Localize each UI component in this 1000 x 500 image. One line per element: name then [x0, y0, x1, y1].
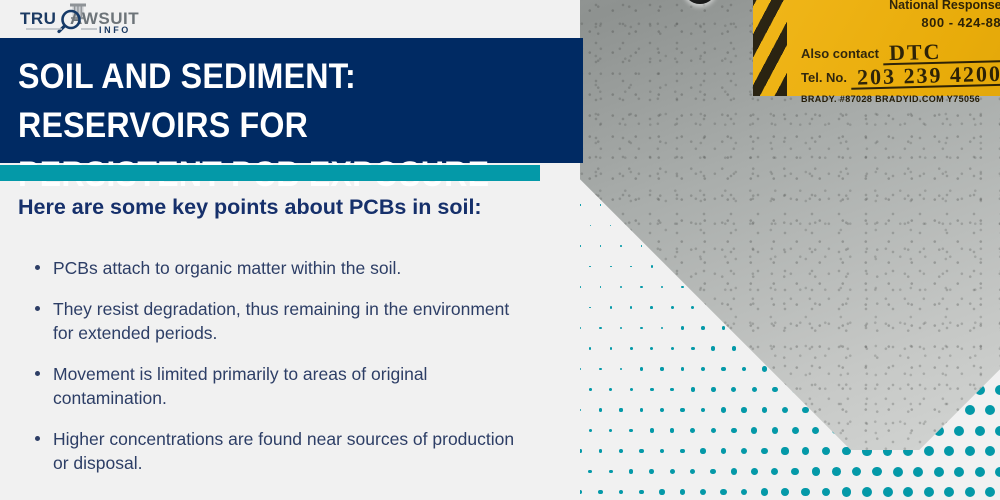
halftone-dot: [580, 409, 581, 412]
label-tel-caption: Tel. No.: [801, 69, 847, 85]
halftone-dot: [751, 427, 757, 433]
halftone-dot: [934, 467, 944, 477]
halftone-dot: [681, 367, 685, 371]
label-manufacturer-line: BRADY. #87028 BRADYID.COM Y75056: [787, 93, 1000, 103]
halftone-dot: [580, 204, 581, 205]
list-item: PCBs attach to organic matter within the…: [32, 256, 522, 280]
halftone-dot: [690, 469, 695, 474]
halftone-dot: [741, 448, 747, 454]
warning-label-body: CAUTION CONTAINS PCBs (Polychlorinated B…: [787, 0, 1000, 104]
halftone-dot: [680, 408, 684, 412]
halftone-dot: [985, 487, 995, 497]
label-also-contact-caption: Also contact: [801, 45, 879, 61]
halftone-dot: [620, 286, 622, 288]
halftone-dot: [761, 448, 768, 455]
halftone-dot: [801, 488, 809, 496]
hazard-stripes-left: [753, 0, 787, 96]
halftone-dot: [721, 407, 726, 412]
halftone-dot: [640, 367, 643, 370]
halftone-dot: [965, 487, 975, 497]
halftone-dot: [741, 489, 748, 496]
halftone-dot: [691, 387, 695, 391]
halftone-dot: [741, 407, 746, 412]
halftone-dot: [701, 326, 705, 330]
halftone-dot: [944, 446, 954, 456]
halftone-dot: [610, 266, 612, 268]
halftone-dot: [710, 469, 716, 475]
halftone-dot: [862, 487, 872, 497]
halftone-dot: [852, 467, 861, 476]
halftone-dot: [791, 468, 799, 476]
halftone-dot: [670, 469, 675, 474]
halftone-dot: [691, 306, 694, 309]
halftone-dot: [680, 489, 686, 495]
halftone-dot: [731, 468, 737, 474]
halftone-dot: [812, 467, 820, 475]
halftone-dot: [650, 347, 653, 350]
halftone-dot: [975, 467, 985, 477]
halftone-dot: [782, 407, 788, 413]
halftone-dot: [661, 327, 664, 330]
halftone-dot: [700, 489, 706, 495]
halftone-dot: [771, 468, 778, 475]
halftone-dot: [671, 306, 674, 309]
halftone-dot: [599, 368, 602, 371]
halftone-dot: [660, 408, 664, 412]
halftone-dot: [721, 367, 725, 371]
halftone-dot: [781, 488, 789, 496]
label-tel-row: Tel. No. 203 239 4200: [801, 63, 1000, 85]
halftone-dot: [630, 266, 632, 268]
halftone-dot: [599, 449, 603, 453]
halftone-dot: [721, 448, 727, 454]
halftone-dot: [580, 490, 582, 494]
halftone-dot: [659, 489, 664, 494]
halftone-dot: [589, 429, 592, 432]
halftone-dot: [954, 426, 964, 436]
halftone-dot: [619, 490, 623, 494]
halftone-dot: [660, 449, 665, 454]
halftone-dot: [690, 428, 695, 433]
halftone-dot: [580, 327, 581, 329]
halftone-dot: [650, 388, 654, 392]
halftone-dot: [720, 489, 726, 495]
halftone-dot: [691, 347, 695, 351]
halftone-dot: [610, 306, 612, 308]
halftone-dot: [580, 368, 581, 370]
halftone-dot: [762, 407, 768, 413]
key-points-list: PCBs attach to organic matter within the…: [32, 256, 522, 492]
halftone-dot: [598, 490, 602, 494]
halftone-dot: [609, 429, 612, 432]
halftone-dot: [590, 225, 591, 226]
label-spill-text: In case of accident or spill, call toll …: [787, 0, 1000, 13]
halftone-dot: [995, 385, 1000, 395]
halftone-dot: [700, 448, 705, 453]
halftone-dot: [701, 367, 705, 371]
svg-text:INFO: INFO: [99, 25, 131, 35]
halftone-dot: [924, 446, 934, 456]
halftone-dot: [630, 347, 633, 350]
teal-accent-bar: [0, 165, 540, 181]
halftone-dot: [985, 405, 995, 415]
halftone-dot: [600, 245, 601, 246]
halftone-dot: [641, 245, 643, 247]
label-contact-block: Also contact DTC Tel. No. 203 239 4200: [787, 40, 1000, 86]
halftone-dot: [599, 408, 602, 411]
halftone-dot: [649, 469, 654, 474]
halftone-dot: [732, 346, 736, 350]
list-item: Higher concentrations are found near sou…: [32, 427, 522, 475]
halftone-dot: [580, 449, 582, 452]
halftone-dot: [610, 225, 611, 226]
halftone-dot: [701, 408, 706, 413]
halftone-dot: [781, 447, 788, 454]
halftone-dot: [629, 429, 633, 433]
halftone-dot: [711, 346, 715, 350]
halftone-dot: [751, 468, 758, 475]
halftone-dot: [681, 286, 684, 289]
halftone-dot: [660, 367, 663, 370]
title-banner: SOIL AND SEDIMENT: RESERVOIRS FOR PERSIS…: [0, 38, 583, 163]
halftone-dot: [772, 427, 778, 433]
halftone-dot: [619, 408, 622, 411]
halftone-dot: [822, 488, 831, 497]
halftone-dot: [680, 449, 685, 454]
halftone-dot: [609, 470, 613, 474]
halftone-dot: [965, 446, 975, 456]
halftone-dot: [752, 387, 757, 392]
halftone-dot: [600, 204, 601, 205]
halftone-dot: [630, 388, 633, 391]
halftone-dot: [620, 245, 622, 247]
halftone-dot: [640, 327, 643, 330]
halftone-dot: [580, 245, 581, 246]
halftone-dot: [630, 306, 632, 308]
label-also-contact-row: Also contact DTC: [801, 40, 1000, 62]
logo-svg: TRU AWSUIT INFO: [18, 2, 150, 36]
halftone-dot: [722, 326, 726, 330]
halftone-dot: [651, 265, 653, 267]
halftone-dot: [589, 266, 591, 268]
halftone-dot: [883, 487, 893, 497]
halftone-dot: [639, 490, 644, 495]
halftone-dot: [620, 327, 622, 329]
halftone-dot: [802, 447, 810, 455]
halftone-dot: [711, 387, 716, 392]
halftone-dot: [772, 387, 778, 393]
halftone-dot: [731, 387, 736, 392]
halftone-dot: [619, 449, 623, 453]
halftone-dot: [742, 367, 747, 372]
halftone-dot: [599, 327, 601, 329]
halftone-dot: [589, 347, 591, 349]
halftone-dot: [944, 487, 954, 497]
halftone-dot: [903, 487, 913, 497]
halftone-dot: [650, 428, 654, 432]
halftone-dot: [822, 447, 830, 455]
trulawsuit-info-logo[interactable]: TRU AWSUIT INFO: [18, 2, 150, 36]
label-spill-phone: 800 - 424-8802: [787, 15, 1000, 30]
list-item: Movement is limited primarily to areas o…: [32, 362, 522, 410]
halftone-dot: [762, 366, 767, 371]
halftone-dot: [600, 286, 602, 288]
halftone-dot: [985, 446, 995, 456]
halftone-dot: [650, 306, 653, 309]
halftone-dot: [639, 449, 643, 453]
section-kicker: Here are some key points about PCBs in s…: [18, 193, 488, 221]
halftone-dot: [995, 426, 1000, 436]
halftone-dot: [640, 408, 644, 412]
label-tel-value: 203 239 4200: [851, 60, 1000, 89]
halftone-dot: [812, 427, 819, 434]
halftone-dot: [965, 405, 975, 415]
halftone-dot: [670, 428, 674, 432]
halftone-dot: [589, 388, 592, 391]
halftone-dot: [580, 286, 581, 288]
halftone-dot: [671, 347, 674, 350]
halftone-dot: [792, 427, 799, 434]
halftone-dot: [975, 426, 985, 436]
halftone-dot: [609, 388, 612, 391]
halftone-dot: [588, 470, 592, 474]
list-item: They resist degradation, thus remaining …: [32, 297, 522, 345]
halftone-dot: [661, 286, 664, 289]
halftone-dot: [670, 388, 674, 392]
halftone-dot: [954, 467, 964, 477]
halftone-dot: [761, 488, 768, 495]
halftone-dot: [610, 347, 612, 349]
halftone-dot: [913, 467, 923, 477]
svg-text:TRU: TRU: [20, 9, 56, 28]
halftone-dot: [681, 326, 684, 329]
halftone-dot: [640, 286, 642, 288]
pcb-warning-label: CAUTION CONTAINS PCBs (Polychlorinated B…: [753, 0, 1000, 96]
artwork-panel: CAUTION CONTAINS PCBs (Polychlorinated B…: [580, 0, 1000, 500]
halftone-dot: [995, 467, 1000, 477]
halftone-dot: [731, 428, 737, 434]
halftone-dot: [711, 428, 716, 433]
halftone-dot: [589, 307, 591, 309]
halftone-dot: [620, 368, 623, 371]
halftone-dot: [842, 487, 851, 496]
halftone-dot: [832, 467, 841, 476]
halftone-dot: [629, 469, 633, 473]
halftone-dot: [924, 487, 934, 497]
